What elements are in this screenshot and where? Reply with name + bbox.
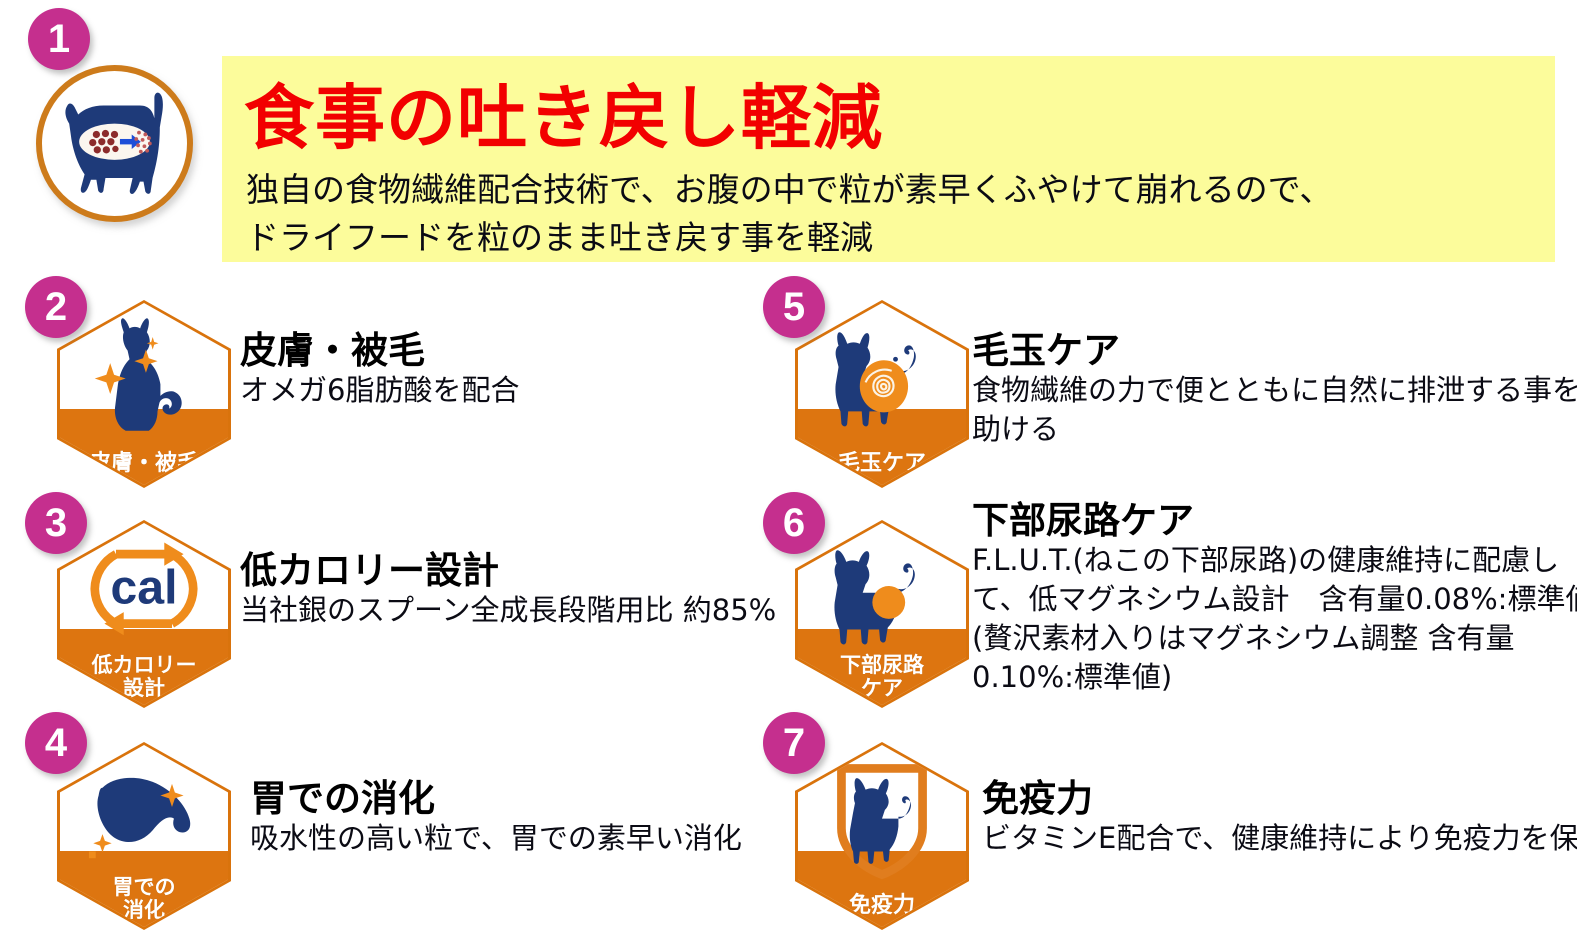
feature-text-hairball-care: 毛玉ケア 食物繊維の力で便とともに自然に排泄する事を 助ける: [972, 330, 1577, 449]
hex-face: 毛玉ケア: [798, 303, 966, 485]
feature-description-line: 当社銀のスプーン全成長段階用比 約85%: [240, 591, 776, 630]
banner-description-line: 独自の食物繊維配合技術で、お腹の中で粒が素早くふやけて崩れるので、: [246, 166, 1332, 214]
number-badge-2: 2: [25, 276, 87, 338]
number-badge-4: 4: [25, 712, 87, 774]
number-badge-6: 6: [763, 492, 825, 554]
feature-title: 皮膚・被毛: [240, 330, 519, 371]
hex-label: 毛玉ケア: [798, 452, 966, 477]
feature-description: 当社銀のスプーン全成長段階用比 約85%: [240, 591, 776, 630]
hex-face: 皮膚・被毛: [60, 303, 228, 485]
feature-title: 下部尿路ケア: [972, 500, 1577, 541]
hex-card-skin-coat: 皮膚・被毛: [57, 300, 231, 488]
feature-title: 低カロリー設計: [240, 550, 776, 591]
hex-label-line: 消化: [60, 899, 228, 923]
hex-label: 下部尿路 ケア: [798, 654, 966, 701]
feature-description-line: F.L.U.T.(ねこの下部尿路)の健康維持に配慮し: [972, 541, 1577, 580]
svg-text:cal: cal: [110, 560, 177, 614]
feature-description-line: ビタミンE配合で、健康維持により免疫力を保つ: [982, 819, 1577, 858]
feature-description-line: 食物繊維の力で便とともに自然に排泄する事を: [972, 371, 1577, 410]
number-badge-7: 7: [763, 712, 825, 774]
feature-text-skin-coat: 皮膚・被毛 オメガ6脂肪酸を配合: [240, 330, 519, 410]
feature-description: ビタミンE配合で、健康維持により免疫力を保つ: [982, 819, 1577, 858]
feature-description-line: て、低マグネシウム設計 含有量0.08%:標準値: [972, 580, 1577, 619]
feature-text-urinary-care: 下部尿路ケア F.L.U.T.(ねこの下部尿路)の健康維持に配慮し て、低マグネ…: [972, 500, 1577, 697]
hex-label: 皮膚・被毛: [60, 452, 228, 477]
hex-card-hairball-care: 毛玉ケア: [795, 300, 969, 488]
number-badge-1: 1: [28, 8, 90, 70]
hex-face: 下部尿路 ケア: [798, 523, 966, 705]
feature-description-line: (贅沢素材入りはマグネシウム調整 含有量: [972, 619, 1577, 658]
cat-digestion-icon: [36, 65, 193, 222]
hex-card-immunity: 免疫力: [795, 742, 969, 930]
hex-label: 低カロリー 設計: [60, 654, 228, 701]
hex-label: 胃での 消化: [60, 876, 228, 923]
infographic-page: 1: [0, 0, 1577, 945]
feature-title: 胃での消化: [250, 778, 742, 819]
hex-card-urinary-care: 下部尿路 ケア: [795, 520, 969, 708]
feature-description-line: 0.10%:標準値): [972, 658, 1577, 697]
hex-card-low-calorie: cal 低カロリー 設計: [57, 520, 231, 708]
feature-title: 免疫力: [982, 778, 1577, 819]
highlight-banner: 食事の吐き戻し軽減 独自の食物繊維配合技術で、お腹の中で粒が素早くふやけて崩れる…: [222, 56, 1555, 262]
feature-description-line: 吸水性の高い粒で、胃での素早い消化: [250, 819, 742, 858]
feature-description-line: オメガ6脂肪酸を配合: [240, 371, 519, 410]
feature-description: 吸水性の高い粒で、胃での素早い消化: [250, 819, 742, 858]
feature-text-stomach-digestion: 胃での消化 吸水性の高い粒で、胃での素早い消化: [250, 778, 742, 858]
hex-face: 免疫力: [798, 745, 966, 927]
banner-title: 食事の吐き戻し軽減: [244, 62, 883, 163]
hex-face: cal 低カロリー 設計: [60, 523, 228, 705]
hex-face: 胃での 消化: [60, 745, 228, 927]
hex-label-line: ケア: [798, 677, 966, 701]
hex-label-line: 設計: [60, 677, 228, 701]
hex-label: 免疫力: [798, 894, 966, 919]
number-badge-3: 3: [25, 492, 87, 554]
feature-description: オメガ6脂肪酸を配合: [240, 371, 519, 410]
banner-description: 独自の食物繊維配合技術で、お腹の中で粒が素早くふやけて崩れるので、 ドライフード…: [246, 166, 1332, 262]
feature-description: F.L.U.T.(ねこの下部尿路)の健康維持に配慮し て、低マグネシウム設計 含…: [972, 541, 1577, 696]
number-badge-5: 5: [763, 276, 825, 338]
feature-text-low-calorie: 低カロリー設計 当社銀のスプーン全成長段階用比 約85%: [240, 550, 776, 630]
hex-card-stomach-digestion: 胃での 消化: [57, 742, 231, 930]
feature-description-line: 助ける: [972, 410, 1577, 449]
feature-title: 毛玉ケア: [972, 330, 1577, 371]
feature-text-immunity: 免疫力 ビタミンE配合で、健康維持により免疫力を保つ: [982, 778, 1577, 858]
banner-description-line: ドライフードを粒のまま吐き戻す事を軽減: [246, 214, 1332, 262]
feature-description: 食物繊維の力で便とともに自然に排泄する事を 助ける: [972, 371, 1577, 449]
